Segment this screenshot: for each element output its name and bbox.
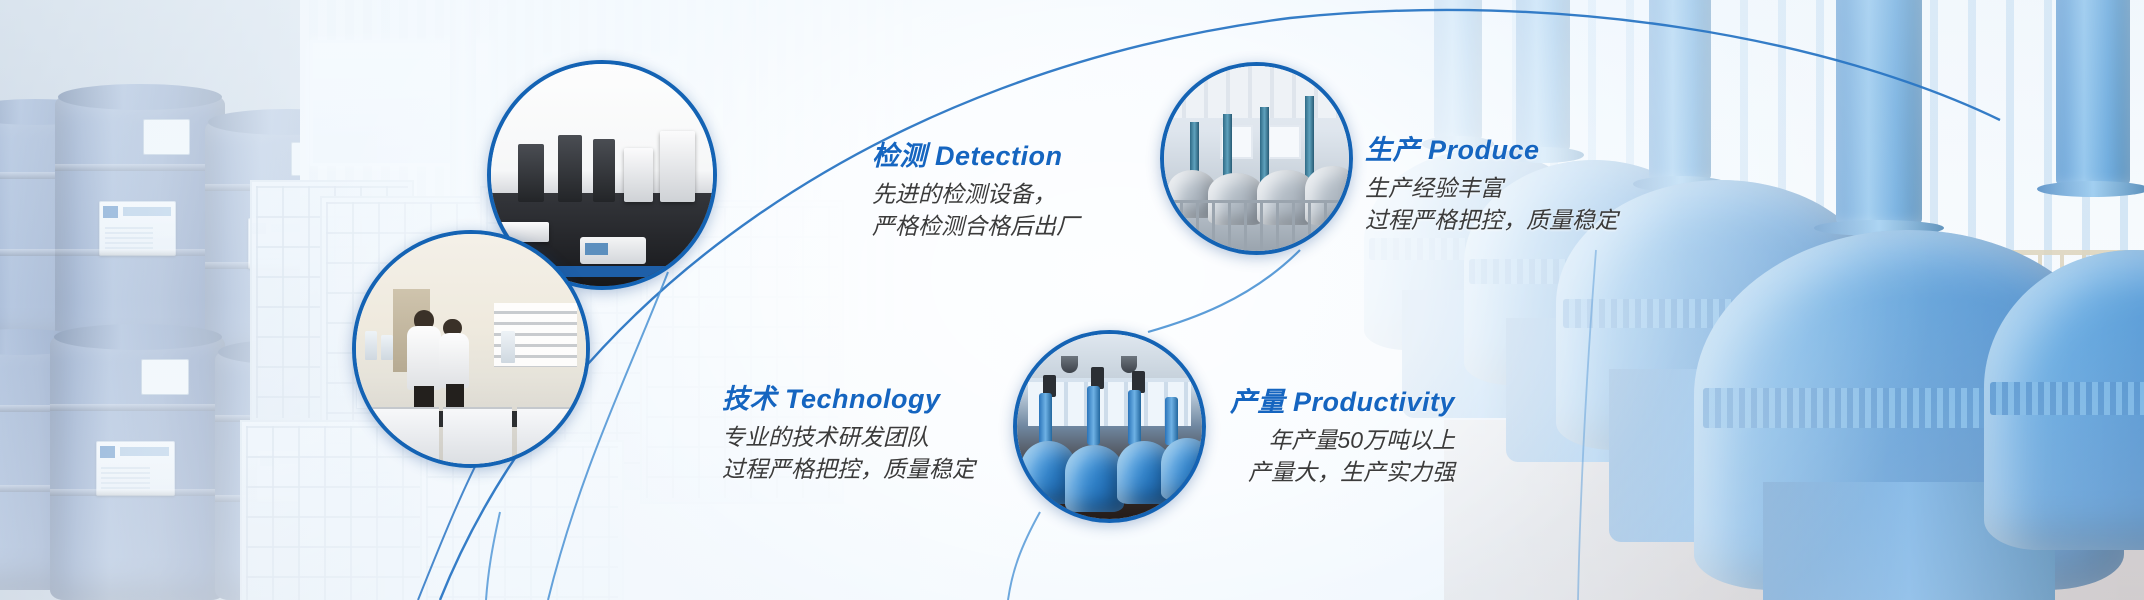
company-strength-banner: 检测 Detection 先进的检测设备， 严格检测合格后出厂 生产 Produ… — [0, 0, 2144, 600]
feature-text-technology: 技术 Technology 专业的技术研发团队 过程严格把控，质量稳定 — [722, 385, 975, 486]
feature-title-detection: 检测 Detection — [872, 142, 1079, 172]
feature-text-productivity: 产量 Productivity 年产量50万吨以上 产量大，生产实力强 — [1000, 388, 1455, 489]
connector-technology-down — [486, 512, 500, 600]
feature-line2-produce: 过程严格把控，质量稳定 — [1365, 204, 1618, 237]
feature-line1-detection: 先进的检测设备， — [872, 178, 1079, 211]
feature-title-technology: 技术 Technology — [722, 385, 975, 415]
feature-line2-productivity: 产量大，生产实力强 — [1000, 456, 1455, 489]
feature-photo-technology — [352, 230, 590, 468]
connector-productivity-down — [1008, 512, 1040, 600]
feature-text-detection: 检测 Detection 先进的检测设备， 严格检测合格后出厂 — [872, 142, 1079, 243]
feature-line2-detection: 严格检测合格后出厂 — [872, 210, 1079, 243]
feature-text-produce: 生产 Produce 生产经验丰富 过程严格把控，质量稳定 — [1365, 136, 1618, 237]
research-lab-technicians-photo — [356, 234, 586, 464]
connector-produce-productivity — [1148, 250, 1300, 332]
feature-title-productivity: 产量 Productivity — [1000, 388, 1455, 418]
feature-line2-technology: 过程严格把控，质量稳定 — [722, 453, 975, 486]
feature-title-produce: 生产 Produce — [1365, 136, 1618, 166]
feature-line1-produce: 生产经验丰富 — [1365, 172, 1618, 205]
feature-line1-technology: 专业的技术研发团队 — [722, 421, 975, 454]
connector-right — [1578, 250, 1596, 600]
feature-line1-productivity: 年产量50万吨以上 — [1000, 424, 1455, 457]
steel-reactor-production-hall-photo — [1164, 66, 1349, 251]
feature-photo-produce — [1160, 62, 1353, 255]
